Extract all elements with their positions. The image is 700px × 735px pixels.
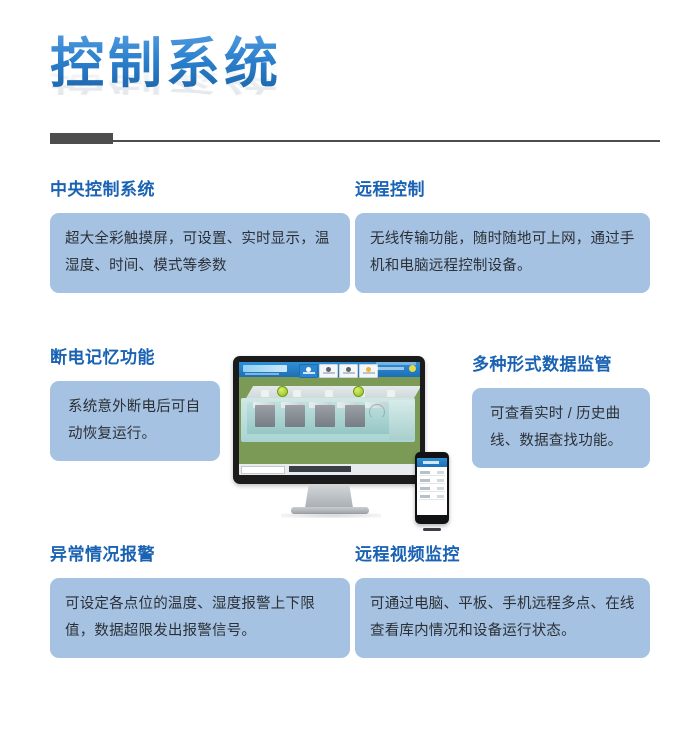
screen-tab-3[interactable]: [339, 364, 358, 378]
phone-list-item-label: [420, 487, 430, 490]
sensor-marker-icon: [277, 386, 288, 397]
phone-app-topbar: [417, 458, 447, 467]
section-body-box: 系统意外断电后可自动恢复运行。: [50, 381, 220, 461]
phone-list-item-label: [420, 479, 430, 482]
tab-label-bar: [303, 372, 315, 374]
phone-list-item[interactable]: [419, 469, 445, 476]
phone-list-item[interactable]: [419, 477, 445, 484]
facility-pillar: [325, 390, 333, 397]
section-heading: 断电记忆功能: [50, 348, 220, 368]
phone-list-item-value: [437, 471, 444, 474]
divider-accent-block: [50, 133, 113, 144]
section-body-box: 超大全彩触摸屏，可设置、实时显示，温湿度、时间、模式等参数: [50, 213, 350, 293]
facility-pillar: [387, 390, 395, 397]
section-divider: [50, 133, 660, 144]
tab-label-bar: [343, 372, 355, 374]
facility-storage-bay: [315, 405, 335, 427]
facility-side-room: [389, 400, 415, 440]
facility-3d-model: [241, 386, 417, 448]
screen-tab-2[interactable]: [319, 364, 338, 378]
monitor-stand-neck: [305, 484, 353, 508]
screen-bottom-input[interactable]: [241, 466, 285, 474]
tab-person-icon: [326, 367, 331, 372]
tab-label-bar: [323, 372, 335, 374]
page-title: 控制系统: [50, 34, 470, 94]
screen-status-indicator-icon: [409, 365, 416, 372]
sensor-marker-icon: [353, 386, 364, 397]
section-power-failure-memory: 断电记忆功能 系统意外断电后可自动恢复运行。: [50, 348, 220, 461]
phone-list-item-label: [420, 495, 430, 498]
facility-storage-bay: [255, 405, 275, 427]
phone-list-item-value: [437, 487, 444, 490]
screen-tab-1[interactable]: [299, 364, 318, 378]
section-body-box: 无线传输功能，随时随地可上网，通过手机和电脑远程控制设备。: [355, 213, 650, 293]
screen-logo-subtext: [245, 373, 279, 375]
section-remote-control: 远程控制 无线传输功能，随时随地可上网，通过手机和电脑远程控制设备。: [355, 180, 650, 293]
screen-topbar: [239, 362, 420, 377]
tab-label-bar: [363, 372, 375, 374]
facility-pillar: [261, 390, 269, 397]
phone-list-item[interactable]: [419, 485, 445, 492]
section-heading: 中央控制系统: [50, 180, 350, 200]
facility-curved-structure: [369, 404, 385, 420]
desktop-monitor: [233, 356, 425, 484]
section-remote-video-monitoring: 远程视频监控 可通过电脑、平板、手机远程多点、在线查看库内情况和设备运行状态。: [355, 545, 650, 658]
screen-status-text: [374, 367, 404, 370]
phone-app-title: [423, 461, 439, 464]
facility-3d-layout-screen: [239, 362, 420, 475]
screen-bottom-status: [289, 466, 351, 472]
section-heading: 远程控制: [355, 180, 650, 200]
section-central-control-system: 中央控制系统 超大全彩触摸屏，可设置、实时显示，温湿度、时间、模式等参数: [50, 180, 350, 293]
facility-storage-bay: [345, 405, 365, 427]
screen-logo-icon: [243, 365, 287, 372]
section-heading: 异常情况报警: [50, 545, 350, 565]
facility-storage-bay: [285, 405, 305, 427]
tab-alert-icon: [366, 367, 371, 372]
monitor-shadow: [281, 513, 381, 518]
section-body-box: 可设定各点位的温度、湿度报警上下限值，数据超限发出报警信号。: [50, 578, 350, 658]
section-heading: 远程视频监控: [355, 545, 650, 565]
section-heading: 多种形式数据监管: [472, 355, 650, 375]
phone-list-item[interactable]: [419, 493, 445, 500]
mobile-monitoring-list: [417, 458, 447, 515]
section-body-box: 可通过电脑、平板、手机远程多点、在线查看库内情况和设备运行状态。: [355, 578, 650, 658]
phone-list-item-value: [437, 495, 444, 498]
divider-line: [50, 140, 660, 142]
smartphone: [415, 452, 449, 524]
section-multi-form-data-supervision: 多种形式数据监管 可查看实时 / 历史曲线、数据查找功能。: [472, 355, 650, 468]
phone-home-indicator: [423, 528, 441, 531]
tab-user-icon: [306, 367, 311, 372]
tab-monitor-icon: [346, 367, 351, 372]
control-system-device-illustration: [233, 356, 473, 531]
phone-list-item-value: [437, 479, 444, 482]
page-title-block: 控制系统 控制系统: [50, 34, 470, 134]
facility-pillar: [293, 390, 301, 397]
screen-bottom-bar: [239, 464, 420, 475]
section-abnormal-condition-alarm: 异常情况报警 可设定各点位的温度、湿度报警上下限值，数据超限发出报警信号。: [50, 545, 350, 658]
phone-list-item-label: [420, 471, 430, 474]
section-body-box: 可查看实时 / 历史曲线、数据查找功能。: [472, 388, 650, 468]
